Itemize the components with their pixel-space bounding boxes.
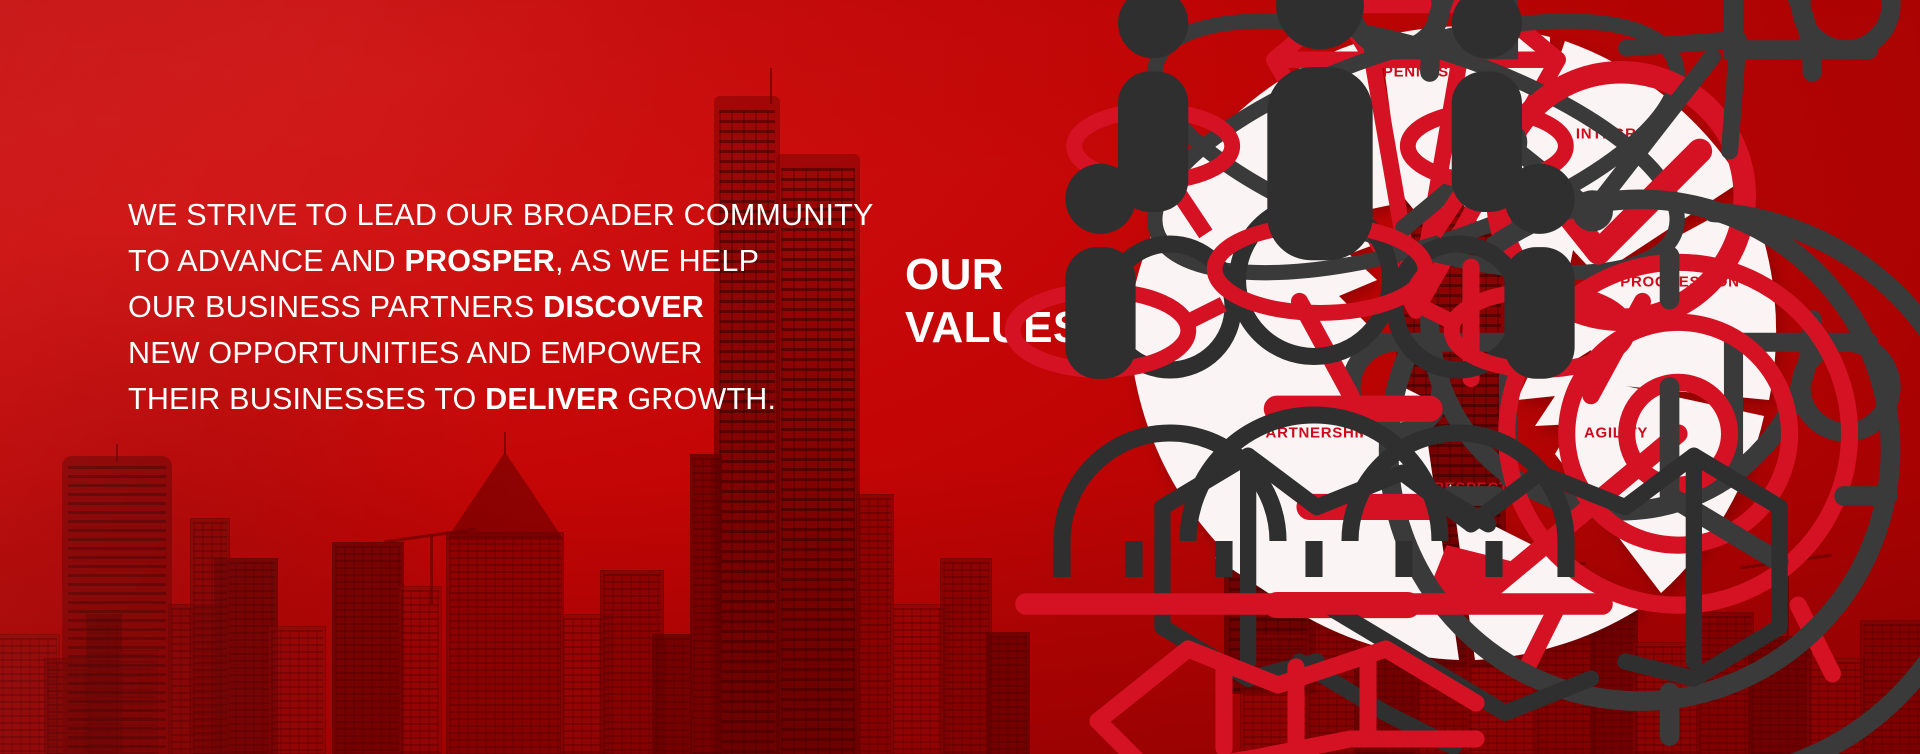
headline-line-5-c: GROWTH. — [619, 382, 776, 416]
headline-line-5-a: THEIR BUSINESSES TO — [128, 382, 485, 416]
headline-line-2: TO ADVANCE AND PROSPER, AS WE HELP — [128, 238, 888, 284]
headline-statement: WE STRIVE TO LEAD OUR BROADER COMMUNITY … — [128, 192, 888, 422]
people-network-icon — [960, 0, 1680, 550]
headline-line-1-text: WE STRIVE TO LEAD OUR BROADER COMMUNITY — [128, 198, 874, 232]
headline-emphasis-deliver: DELIVER — [485, 382, 619, 416]
headline-line-4-text: NEW OPPORTUNITIES AND EMPOWER — [128, 336, 703, 370]
hero-banner: WE STRIVE TO LEAD OUR BROADER COMMUNITY … — [0, 0, 1920, 754]
headline-emphasis-discover: DISCOVER — [543, 290, 704, 324]
headline-line-2-c: , AS WE HELP — [555, 244, 759, 278]
headline-line-2-a: TO ADVANCE AND — [128, 244, 404, 278]
values-wheel: OPENNESS LEADERSHIP INTEGRITY PROGRESSIO… — [1105, 18, 1825, 738]
headline-emphasis-prosper: PROSPER — [404, 244, 555, 278]
headline-line-4: NEW OPPORTUNITIES AND EMPOWER — [128, 330, 888, 376]
headline-line-5: THEIR BUSINESSES TO DELIVER GROWTH. — [128, 376, 888, 422]
headline-line-3: OUR BUSINESS PARTNERS DISCOVER — [128, 284, 888, 330]
headline-line-1: WE STRIVE TO LEAD OUR BROADER COMMUNITY — [128, 192, 888, 238]
headline-line-3-a: OUR BUSINESS PARTNERS — [128, 290, 543, 324]
